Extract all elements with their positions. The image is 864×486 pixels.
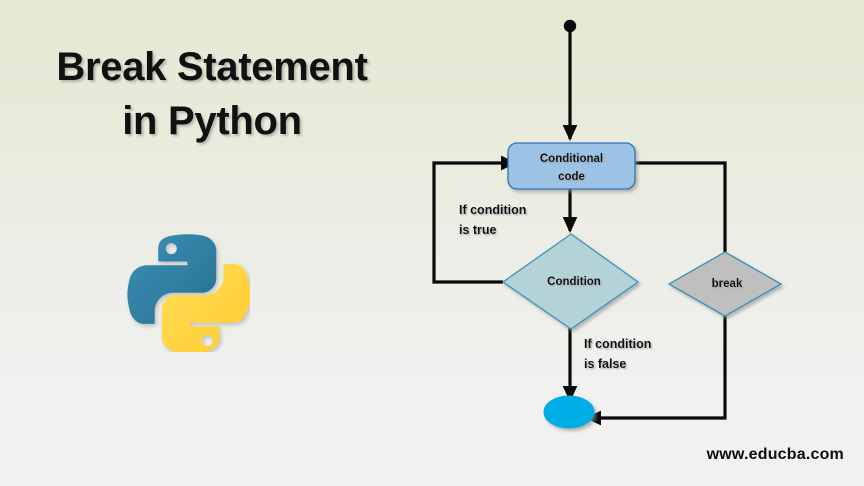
connector-conditional-to-break: [635, 163, 725, 252]
title-line-2: in Python: [22, 94, 402, 148]
edge-label-false-line-2: is false: [584, 357, 626, 371]
python-logo: [126, 228, 250, 352]
edge-label-false-line-1: If condition: [584, 337, 651, 351]
node-conditional-code[interactable]: Conditional code: [508, 143, 635, 189]
site-url: www.educba.com: [707, 446, 844, 464]
node-conditional-code-label-line-2: code: [558, 171, 585, 183]
flowchart-diagram: [data-name="connector-condition-true-loo…: [415, 0, 864, 460]
node-condition[interactable]: Condition: [503, 234, 638, 329]
title-line-1: Break Statement: [22, 40, 402, 94]
edge-label-true-branch: If condition is true: [459, 203, 526, 237]
flowchart-connectors: [434, 26, 725, 418]
node-conditional-code-label-line-1: Conditional: [540, 153, 603, 165]
edge-label-false-branch: If condition is false: [584, 337, 651, 371]
node-break[interactable]: break: [669, 252, 781, 316]
node-condition-label: Condition: [547, 276, 601, 288]
node-break-label: break: [712, 278, 743, 290]
node-end-terminal[interactable]: [544, 396, 594, 428]
edge-label-true-line-2: is true: [459, 223, 497, 237]
edge-label-true-line-1: If condition: [459, 203, 526, 217]
slide-canvas: Break Statement in Python: [0, 0, 864, 486]
page-title: Break Statement in Python: [22, 40, 402, 148]
flowchart-start-dot: [564, 20, 576, 32]
node-end-terminal-shape[interactable]: [544, 396, 594, 428]
